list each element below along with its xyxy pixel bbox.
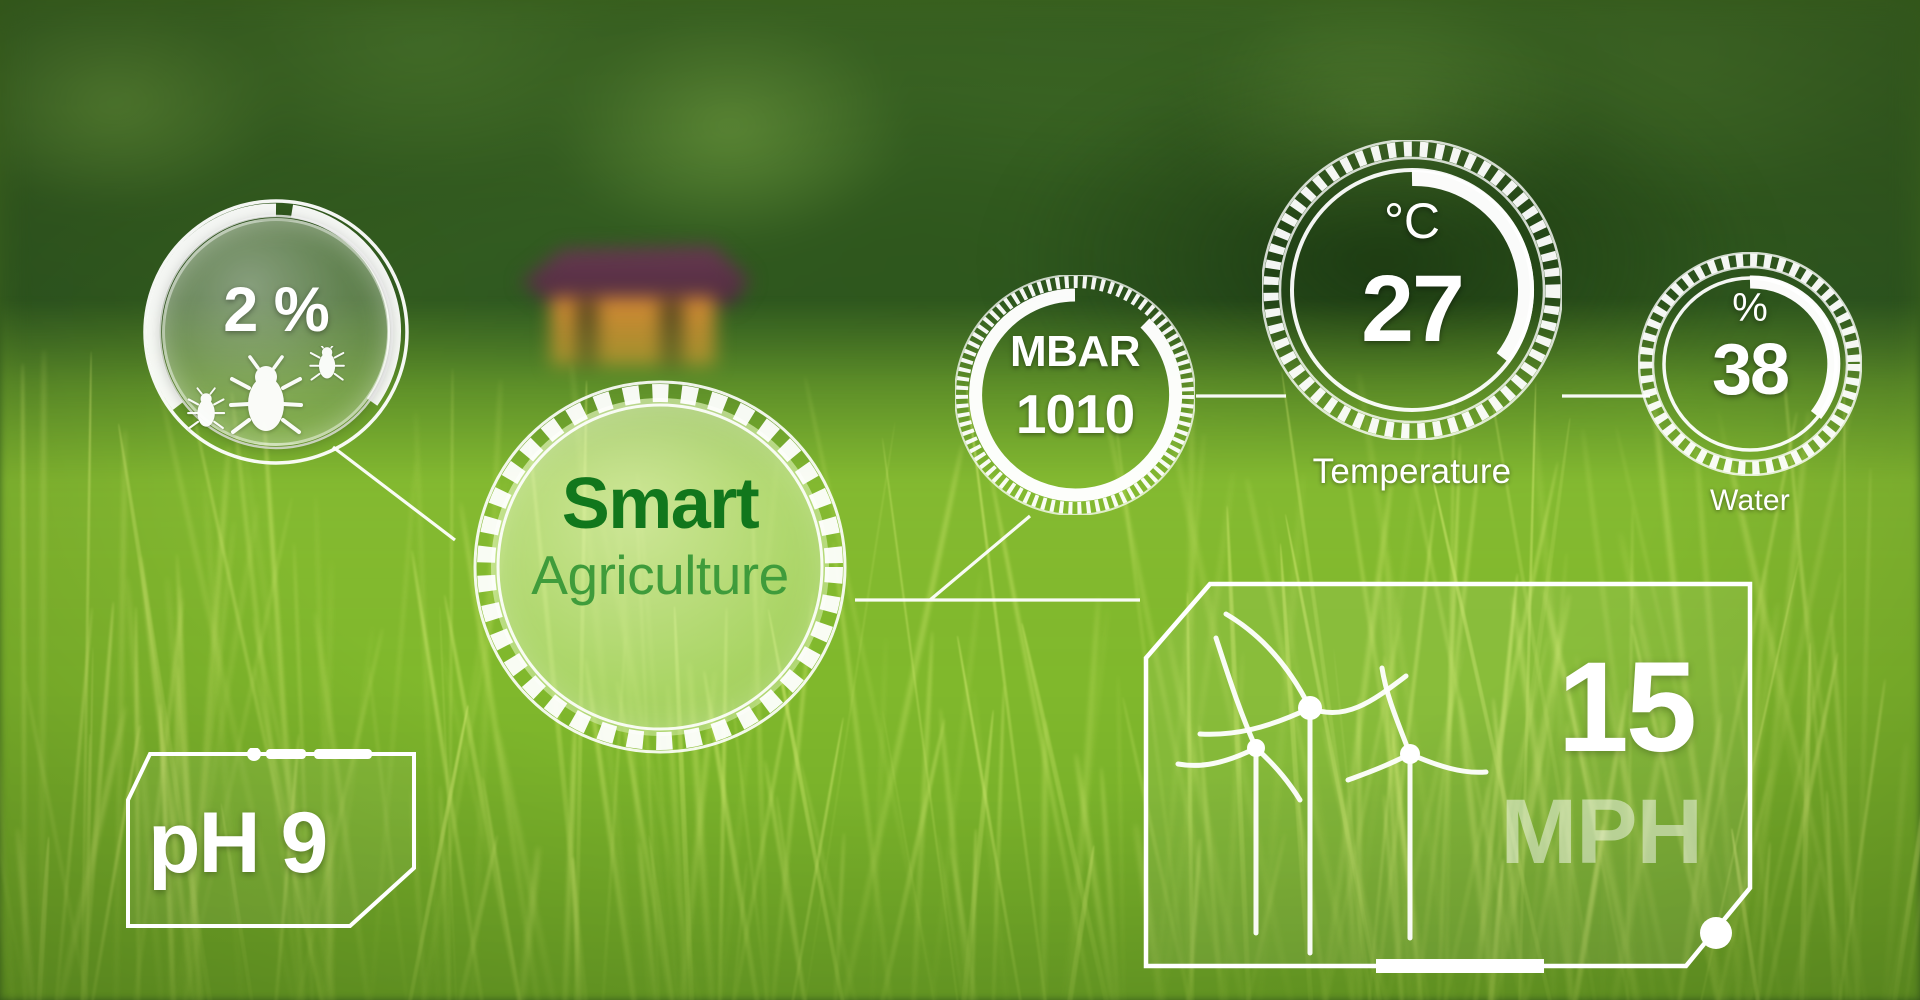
- wind-accent-dash: [1376, 959, 1544, 973]
- brand-secondary-text: Agriculture: [465, 548, 855, 603]
- ph-accent-dash-2: [314, 749, 372, 759]
- temperature-value: 27: [1262, 262, 1562, 357]
- ph-accent-dash-1: [266, 749, 306, 759]
- water-label: Water: [1638, 484, 1862, 518]
- wind-accent-dot: [1700, 917, 1732, 949]
- hud-overlay: 2 %: [0, 0, 1920, 1000]
- wind-speed-value: 15: [1558, 644, 1694, 772]
- pest-level-gauge[interactable]: 2 %: [140, 196, 412, 468]
- temperature-label: Temperature: [1262, 452, 1562, 492]
- brand-primary-text: Smart: [465, 468, 855, 540]
- barometric-pressure-gauge[interactable]: MBAR 1010: [955, 275, 1195, 515]
- screenshot-root: 2 %: [0, 0, 1920, 1000]
- pressure-unit: MBAR: [955, 327, 1195, 377]
- temperature-unit: °C: [1262, 192, 1562, 250]
- water-value: 38: [1638, 334, 1862, 406]
- temperature-gauge[interactable]: °C 27 Temperature: [1262, 140, 1562, 440]
- connector-brand-pressure: [930, 516, 1030, 600]
- water-level-gauge[interactable]: % 38 Water: [1638, 252, 1862, 476]
- pest-value: 2 %: [140, 274, 412, 346]
- insect-icon-large-center: [231, 357, 301, 432]
- insect-icon-group: [184, 346, 374, 456]
- ph-value: pH 9: [148, 800, 326, 886]
- wind-speed-panel[interactable]: 15 MPH: [1138, 578, 1758, 998]
- insect-icon-small-right: [310, 346, 344, 380]
- wind-speed-unit: MPH: [1501, 786, 1702, 878]
- smart-agriculture-badge[interactable]: Smart Agriculture: [465, 372, 855, 762]
- water-unit: %: [1638, 286, 1862, 331]
- insect-icon-small-left: [188, 388, 224, 428]
- soil-ph-panel[interactable]: pH 9: [118, 748, 428, 968]
- pressure-value: 1010: [955, 382, 1195, 446]
